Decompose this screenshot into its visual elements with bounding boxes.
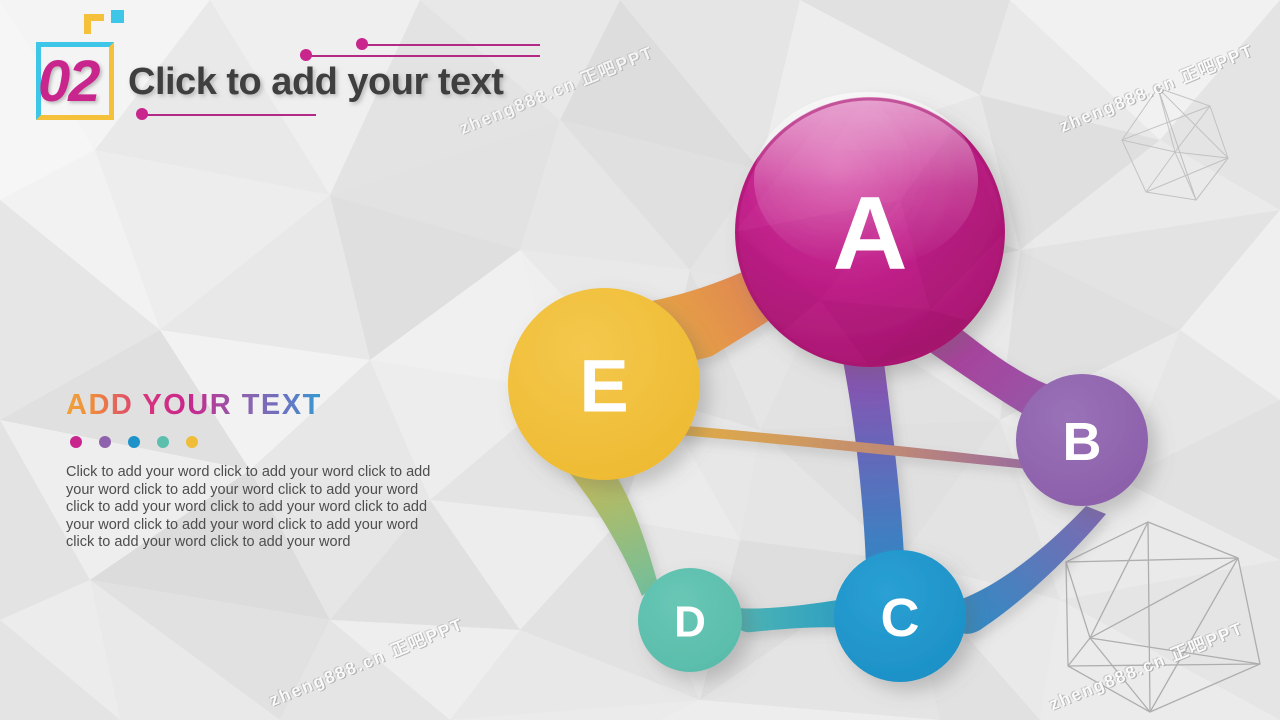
node-a-label: A <box>832 176 907 292</box>
edge-c-d <box>735 600 846 632</box>
node-c-label: C <box>881 588 920 648</box>
node-e[interactable]: E <box>508 288 700 480</box>
node-c[interactable]: C <box>834 550 966 682</box>
node-b[interactable]: B <box>1016 374 1148 506</box>
node-e-label: E <box>579 345 628 428</box>
node-b-label: B <box>1063 412 1102 472</box>
node-a[interactable]: A <box>735 90 1005 367</box>
node-network-diagram: A E B C D <box>0 0 1280 720</box>
slide-canvas: 02 Click to add your text ADD YOUR TEXT … <box>0 0 1280 720</box>
node-d-label: D <box>674 598 706 647</box>
node-d[interactable]: D <box>638 568 742 672</box>
edge-b-c <box>952 506 1106 634</box>
diagram-nodes: A E B C D <box>508 90 1148 682</box>
